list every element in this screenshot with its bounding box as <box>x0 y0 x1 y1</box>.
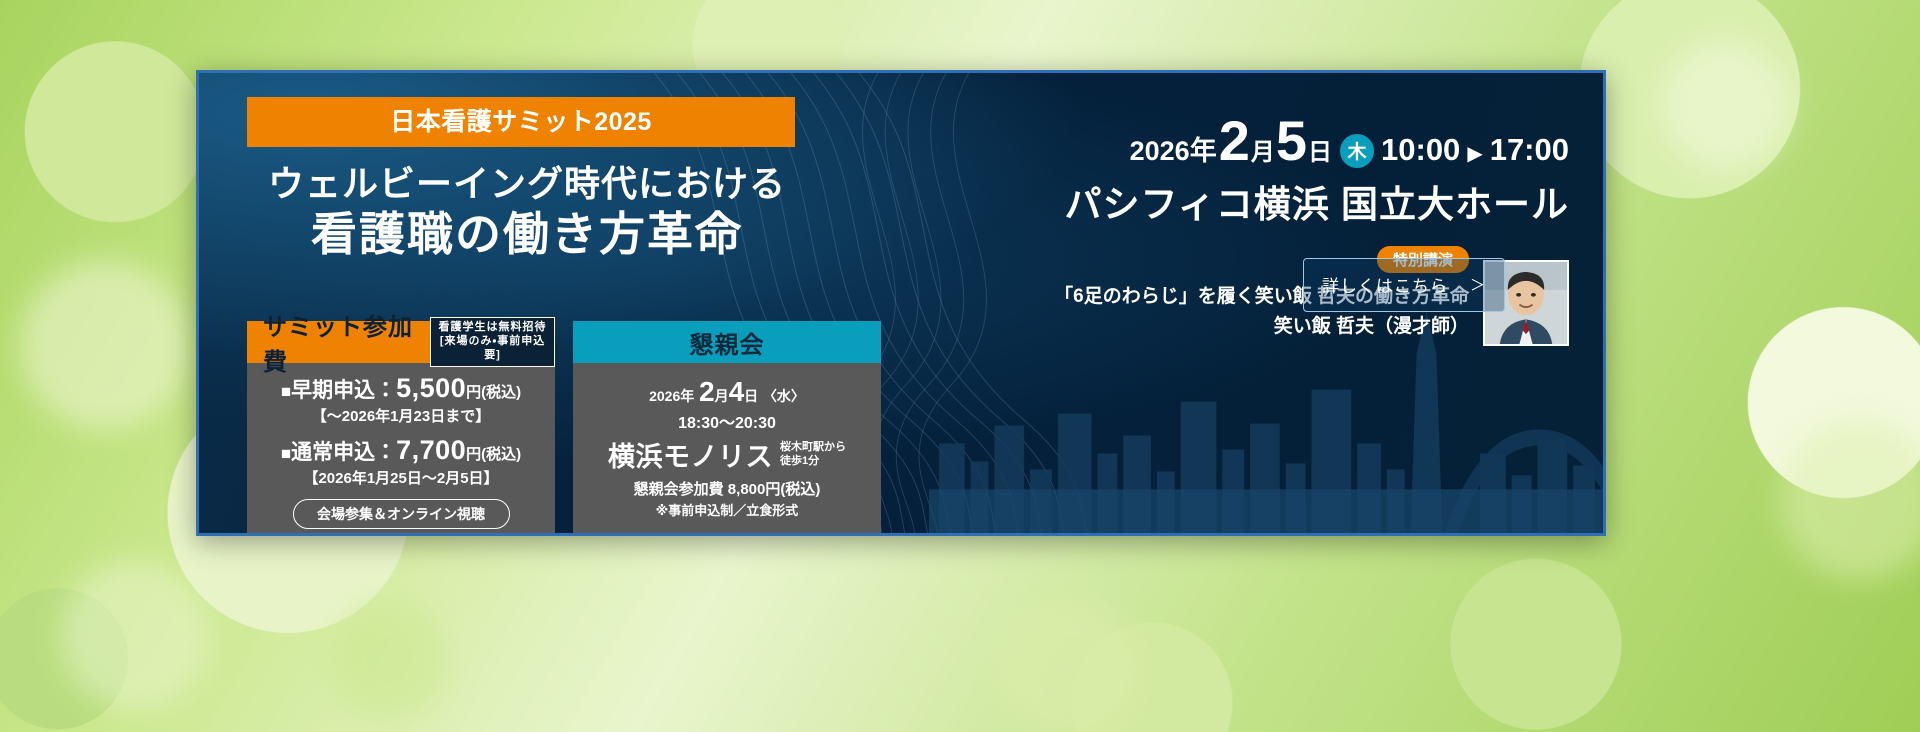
right-column: 2026年 2 月 5 日 木 10:00 ▶ 17:00 パシフィコ横浜 国立… <box>839 113 1569 346</box>
fee-amount-early: 5,500 <box>396 373 466 403</box>
party-panel: 懇親会 2026年 2月4日 〈水〉 18:30～20:30 横浜モノリス 桜木… <box>573 321 881 536</box>
party-venue-row: 横浜モノリス 桜木町駅から 徒歩1分 <box>585 435 869 474</box>
day-of-week-badge: 木 <box>1340 134 1374 168</box>
main-venue: パシフィコ横浜 国立大ホール <box>839 174 1569 228</box>
party-year: 2026年 <box>649 388 694 404</box>
end-time: 17:00 <box>1490 132 1569 168</box>
bokeh-blob <box>330 600 450 720</box>
left-column: 日本看護サミット2025 ウェルビーイング時代における 看護職の働き方革命 <box>247 97 847 262</box>
fee-yen-regular: 円(税込) <box>466 446 521 463</box>
fee-label-early: 早期申込： <box>291 379 396 402</box>
main-year: 2026年 <box>1130 129 1217 168</box>
party-note: ※事前申込制／立食形式 <box>585 500 869 519</box>
event-series-title: 日本看護サミット2025 <box>247 97 795 147</box>
party-day-number: 4 <box>729 376 745 407</box>
bokeh-blob <box>60 560 210 710</box>
bokeh-blob <box>1000 600 1140 732</box>
fee-panel-header: サミット参加費 看護学生は無料招待 [来場のみ・事前申込要] <box>247 321 555 363</box>
bokeh-blob <box>1780 420 1920 580</box>
main-month-number: 2 <box>1219 113 1250 169</box>
student-free-badge: 看護学生は無料招待 [来場のみ・事前申込要] <box>430 317 555 366</box>
details-cta-button[interactable]: 詳しくはこちら ＞ <box>1303 258 1505 312</box>
party-date: 2026年 2月4日 〈水〉 <box>585 376 869 408</box>
fee-yen-early: 円(税込) <box>466 384 521 401</box>
event-banner[interactable]: 日本看護サミット2025 ウェルビーイング時代における 看護職の働き方革命 サミ… <box>196 70 1606 536</box>
party-walk-info: 桜木町駅から 徒歩1分 <box>780 441 846 467</box>
party-day-unit: 日 <box>744 388 758 404</box>
student-free-badge-line-1: 看護学生は無料招待 <box>439 321 547 333</box>
start-time: 10:00 <box>1381 132 1460 168</box>
party-panel-title: 懇親会 <box>690 325 765 360</box>
fee-amount-regular: 7,700 <box>396 435 466 465</box>
speaker-name: 笑い飯 哲夫（漫才師） <box>1054 311 1469 338</box>
party-dow: 〈水〉 <box>763 388 805 404</box>
main-day-number: 5 <box>1276 113 1307 169</box>
fee-panel: サミット参加費 看護学生は無料招待 [来場のみ・事前申込要] ■早期申込：5,5… <box>247 321 555 536</box>
info-panels: サミット参加費 看護学生は無料招待 [来場のみ・事前申込要] ■早期申込：5,5… <box>247 321 881 536</box>
main-date-line: 2026年 2 月 5 日 木 10:00 ▶ 17:00 <box>839 113 1569 170</box>
time-range-arrow-icon: ▶ <box>1467 141 1482 166</box>
fee-label-regular: 通常申込： <box>291 441 396 464</box>
main-day-unit: 日 <box>1308 132 1332 167</box>
headline: ウェルビーイング時代における 看護職の働き方革命 <box>247 163 807 262</box>
details-cta-label: 詳しくはこちら <box>1322 272 1448 297</box>
fee-note-early: 【～2026年1月23日まで】 <box>259 405 543 426</box>
bokeh-blob <box>20 260 190 430</box>
party-time: 18:30～20:30 <box>585 409 869 433</box>
main-month-unit: 月 <box>1251 132 1275 167</box>
fee-marker-early: ■ <box>281 382 291 401</box>
bokeh-blob <box>1660 40 1790 170</box>
fee-row-early: ■早期申込：5,500円(税込) <box>259 373 543 404</box>
fee-marker-regular: ■ <box>281 444 291 463</box>
party-walk-line-2: 徒歩1分 <box>780 455 819 467</box>
fee-spacer <box>259 426 543 435</box>
headline-line-2: 看護職の働き方革命 <box>247 207 807 261</box>
party-month-unit: 月 <box>715 388 729 404</box>
student-free-badge-line-2: [来場のみ・事前申込要] <box>440 335 545 361</box>
attendance-mode-pill: 会場参集＆オンライン視聴 <box>293 499 510 529</box>
chevron-right-icon: ＞ <box>1470 274 1486 295</box>
party-panel-body: 2026年 2月4日 〈水〉 18:30～20:30 横浜モノリス 桜木町駅から… <box>573 363 881 533</box>
headline-line-1: ウェルビーイング時代における <box>247 163 807 205</box>
party-walk-line-1: 桜木町駅から <box>780 441 846 453</box>
party-venue-name: 横浜モノリス <box>608 435 773 474</box>
fee-row-regular: ■通常申込：7,700円(税込) <box>259 435 543 466</box>
party-fee: 懇親会参加費 8,800円(税込) <box>585 478 869 499</box>
fee-panel-body: ■早期申込：5,500円(税込) 【～2026年1月23日まで】 ■通常申込：7… <box>247 363 555 536</box>
fee-note-regular: 【2026年1月25日～2月5日】 <box>259 467 543 488</box>
fee-panel-title: サミット参加費 <box>263 307 422 377</box>
party-panel-header: 懇親会 <box>573 321 881 363</box>
party-month-number: 2 <box>699 376 715 407</box>
